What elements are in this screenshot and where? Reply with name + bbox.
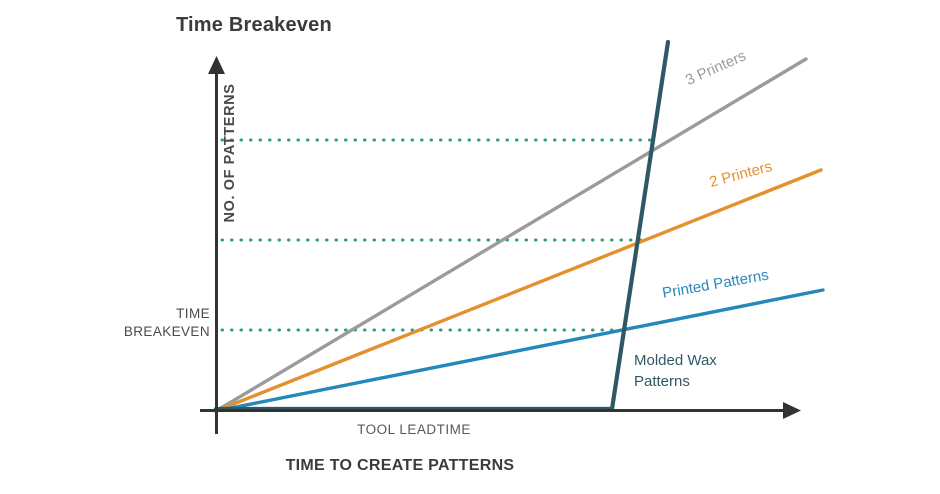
breakeven-guides (222, 140, 657, 330)
time-breakeven-tick-label: TIME BREAKEVEN (80, 305, 210, 341)
time-breakeven-tick-line2: BREAKEVEN (80, 323, 210, 341)
chart-canvas: Time Breakeven NO. OF PATTERNS TIME TO C… (0, 0, 940, 494)
series-line-three-printers (216, 59, 806, 411)
series-lines (216, 42, 823, 411)
series-label-molded-wax-line1: Molded Wax (634, 350, 717, 371)
x-axis-arrow-icon (783, 402, 801, 419)
time-breakeven-tick-line1: TIME (80, 305, 210, 323)
y-axis-title: NO. OF PATTERNS (222, 53, 238, 253)
series-label-molded-wax-line2: Patterns (634, 371, 717, 392)
x-axis-title: TIME TO CREATE PATTERNS (0, 457, 800, 475)
series-line-two-printers (216, 170, 821, 411)
page-title: Time Breakeven (176, 14, 332, 37)
series-line-molded-wax-patterns (216, 42, 668, 409)
series-label-molded-wax-patterns: Molded Wax Patterns (634, 350, 717, 392)
series-line-printed-patterns (216, 290, 823, 411)
tool-leadtime-label: TOOL LEADTIME (216, 422, 612, 437)
chart-graphics (0, 0, 940, 494)
